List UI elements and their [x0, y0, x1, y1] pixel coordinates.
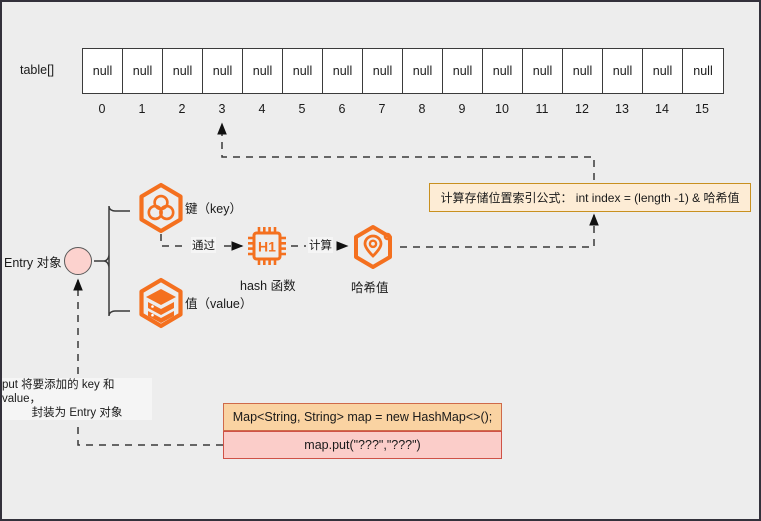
array-cell[interactable]: null — [563, 49, 603, 93]
array-cell[interactable]: null — [203, 49, 243, 93]
chip-text: H1 — [258, 239, 276, 255]
array-index: 12 — [562, 102, 602, 116]
hash-value-label: 哈希值 — [351, 277, 389, 296]
array-cell[interactable]: null — [243, 49, 283, 93]
array-cell[interactable]: null — [523, 49, 563, 93]
array-cell[interactable]: null — [163, 49, 203, 93]
edge-label-compute: 计算 — [308, 237, 333, 253]
table-array: null null null null null null null null … — [82, 48, 724, 94]
table-array-label: table[] — [20, 63, 54, 77]
cpu-chip-icon: H1 — [245, 224, 289, 268]
put-note: put 将要添加的 key 和 value， 封装为 Entry 对象 — [2, 378, 152, 420]
entry-brace — [94, 206, 130, 316]
hexagon-database-icon — [135, 277, 187, 329]
array-index: 7 — [362, 102, 402, 116]
value-label: 值（value） — [185, 293, 252, 312]
array-index: 1 — [122, 102, 162, 116]
entry-object-node[interactable] — [64, 247, 92, 275]
entry-object-label: Entry 对象 — [4, 252, 62, 271]
array-cell[interactable]: null — [403, 49, 443, 93]
code-line-map-put: map.put("???","???") — [223, 431, 502, 459]
put-note-line-1: put 将要添加的 key 和 value， — [2, 378, 152, 406]
array-cell[interactable]: null — [323, 49, 363, 93]
key-label: 键（key） — [185, 198, 242, 217]
array-index: 5 — [282, 102, 322, 116]
edge-hashvalue-to-formula — [400, 215, 594, 247]
edge-formula-to-index3 — [222, 124, 594, 180]
array-cell[interactable]: null — [483, 49, 523, 93]
array-index: 10 — [482, 102, 522, 116]
hash-function-label: hash 函数 — [240, 275, 296, 294]
array-cell[interactable]: null — [363, 49, 403, 93]
array-cell[interactable]: null — [443, 49, 483, 93]
array-cell[interactable]: null — [643, 49, 683, 93]
array-index: 15 — [682, 102, 722, 116]
array-index: 8 — [402, 102, 442, 116]
put-note-line-2: 封装为 Entry 对象 — [2, 406, 152, 420]
array-index: 14 — [642, 102, 682, 116]
array-cell[interactable]: null — [283, 49, 323, 93]
hexagon-pin-icon — [350, 224, 396, 270]
array-index: 13 — [602, 102, 642, 116]
array-index: 0 — [82, 102, 122, 116]
array-index: 2 — [162, 102, 202, 116]
array-index: 9 — [442, 102, 482, 116]
array-cell[interactable]: null — [83, 49, 123, 93]
array-cell[interactable]: null — [603, 49, 643, 93]
code-line-hashmap-declaration: Map<String, String> map = new HashMap<>(… — [223, 403, 502, 431]
hexagon-three-rings-icon — [135, 182, 187, 234]
array-cell[interactable]: null — [123, 49, 163, 93]
array-index: 6 — [322, 102, 362, 116]
array-index: 3 — [202, 102, 242, 116]
index-formula-box: 计算存储位置索引公式： int index = (length -1) & 哈希… — [429, 183, 751, 212]
array-index-row: 0 1 2 3 4 5 6 7 8 9 10 11 12 13 14 15 — [82, 102, 722, 116]
edge-label-via: 通过 — [191, 237, 216, 253]
array-index: 11 — [522, 102, 562, 116]
array-cell[interactable]: null — [683, 49, 723, 93]
diagram-canvas: table[] null null null null null null nu… — [0, 0, 761, 521]
array-index: 4 — [242, 102, 282, 116]
